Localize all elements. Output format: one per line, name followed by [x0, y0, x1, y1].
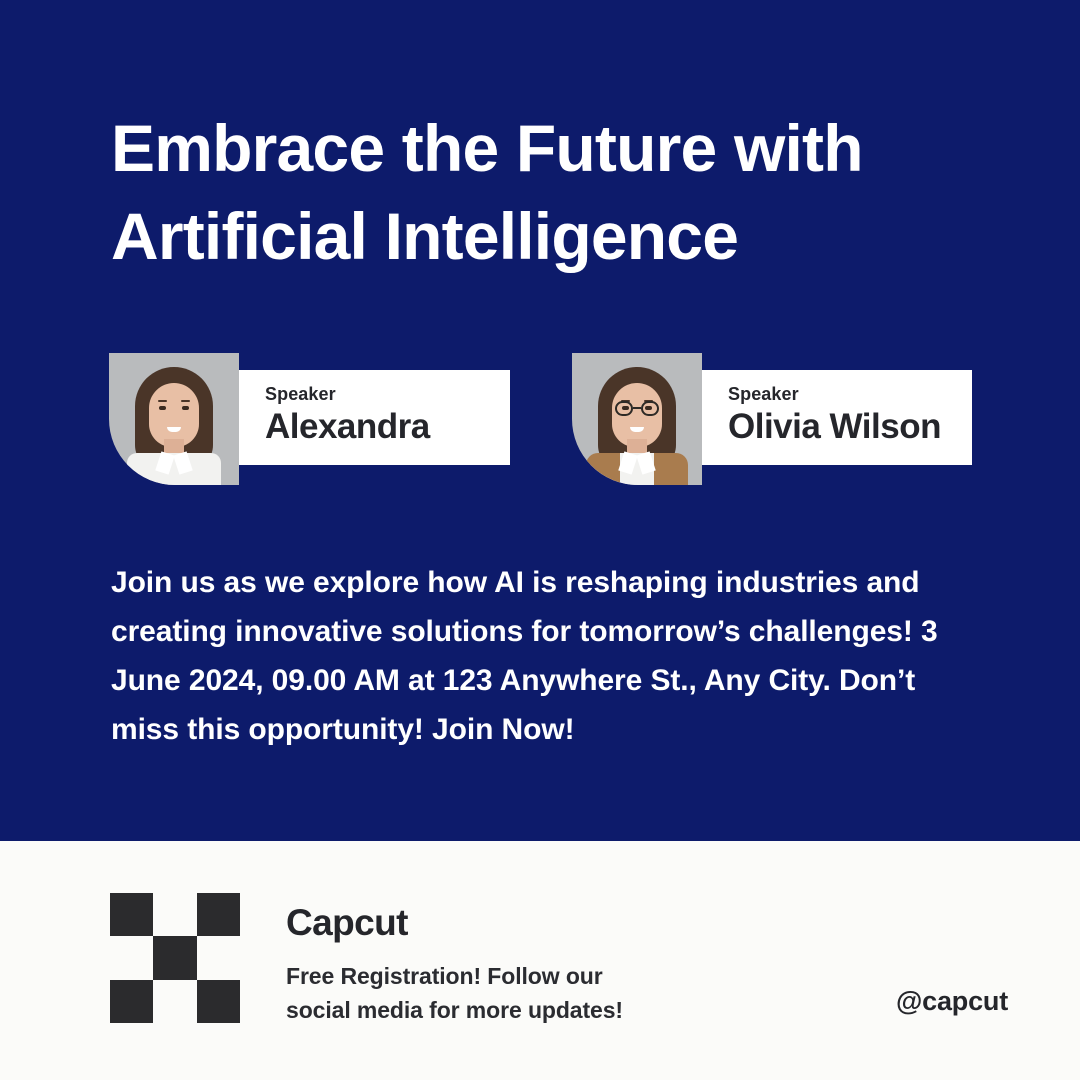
speaker-name-plate: Speaker Alexandra [237, 370, 510, 465]
speaker-list: Speaker Alexandra [0, 353, 1080, 485]
glasses-lens-right-icon [641, 401, 659, 416]
speaker-name: Olivia Wilson [728, 406, 972, 448]
hero-section: Embrace the Future with Artificial Intel… [0, 0, 1080, 841]
portrait-cardigan-right [654, 453, 688, 485]
registration-tagline: Free Registration! Follow our social med… [286, 959, 716, 1027]
logo-cell [153, 936, 196, 979]
logo-cell [110, 980, 153, 1023]
logo-cell [153, 893, 196, 936]
speaker-role-label: Speaker [265, 384, 510, 404]
checkerboard-logo-icon [110, 893, 240, 1023]
logo-cell [197, 893, 240, 936]
logo-cell [110, 893, 153, 936]
portrait-face [149, 383, 199, 447]
poster-canvas: Embrace the Future with Artificial Intel… [0, 0, 1080, 1080]
logo-cell [197, 980, 240, 1023]
social-handle[interactable]: @capcut [896, 986, 1008, 1017]
speaker-name: Alexandra [265, 406, 510, 448]
portrait-eye-right [182, 406, 189, 410]
avatar [109, 353, 239, 485]
footer-section: Capcut Free Registration! Follow our soc… [0, 841, 1080, 1080]
page-title: Embrace the Future with Artificial Intel… [111, 104, 1011, 280]
avatar [572, 353, 702, 485]
portrait-cardigan-left [586, 453, 620, 485]
logo-cell [153, 980, 196, 1023]
portrait-eye-left [159, 406, 166, 410]
logo-cell [197, 936, 240, 979]
speaker-role-label: Speaker [728, 384, 972, 404]
speaker-name-plate: Speaker Olivia Wilson [700, 370, 972, 465]
event-description: Join us as we explore how AI is reshapin… [111, 558, 981, 754]
portrait-brow-right [181, 400, 190, 402]
brand-name: Capcut [286, 901, 408, 945]
glasses-lens-left-icon [615, 401, 633, 416]
glasses-bridge-icon [633, 407, 641, 409]
portrait-brow-left [158, 400, 167, 402]
logo-cell [110, 936, 153, 979]
